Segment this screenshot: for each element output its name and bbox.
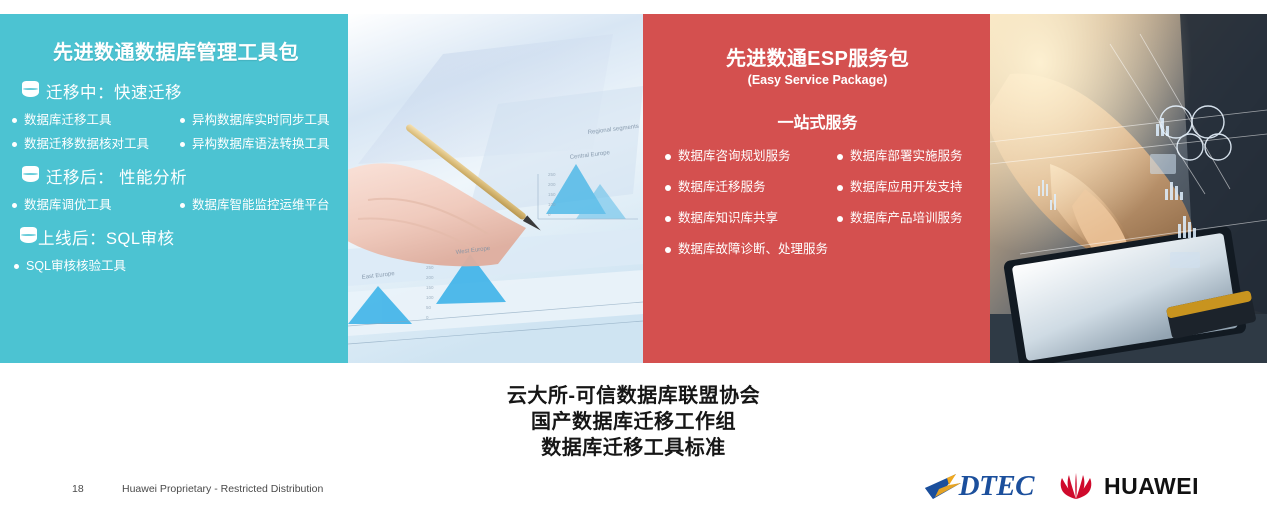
list-item-label: 数据迁移数据核对工具 [24, 137, 149, 152]
toolkit-list-during-migration: 数据库迁移工具 异构数据库实时同步工具 数据迁移数据核对工具 异构数据库语法转换… [12, 113, 340, 152]
section-heading-during-migration: 迁移中：快速迁移 [22, 79, 340, 103]
page-number: 18 [72, 483, 84, 495]
bullet-dot-icon [180, 203, 185, 208]
esp-panel-subtitle: (Easy Service Package) [655, 73, 980, 87]
caption-line-2: 国产数据库迁移工作组 [0, 409, 1267, 435]
database-icon [22, 166, 39, 186]
list-item: 数据库部署实施服务 [837, 149, 980, 164]
list-item-label: 数据库部署实施服务 [850, 149, 963, 164]
huawei-flower-icon [1056, 472, 1096, 502]
list-item-label: 数据库产品培训服务 [850, 211, 963, 226]
section-heading-label: 上线后：SQL审核 [38, 225, 175, 249]
toolkit-list-after-golive: SQL审核核验工具 [14, 259, 340, 274]
svg-text:250: 250 [548, 172, 556, 177]
tablet-photo [990, 14, 1267, 363]
list-item-label: SQL审核核验工具 [26, 259, 126, 274]
list-item-label: 数据库智能监控运维平台 [192, 198, 330, 213]
section-heading-label: 迁移后： 性能分析 [46, 164, 187, 188]
bullet-dot-icon [180, 118, 185, 123]
list-item: 数据库故障诊断、处理服务 [665, 242, 837, 257]
list-item: 数据库智能监控运维平台 [180, 198, 340, 213]
tablet-photo-illustration [990, 14, 1267, 363]
database-icon [22, 81, 39, 101]
list-item-label: 数据库应用开发支持 [850, 180, 963, 195]
database-icon [20, 227, 37, 247]
bullet-dot-icon [837, 216, 843, 222]
analytics-photo-illustration: Regional segments Central Europe West Eu… [348, 14, 643, 363]
huawei-wordmark: HUAWEI [1104, 473, 1199, 500]
svg-text:100: 100 [426, 295, 434, 300]
list-item-label: 异构数据库实时同步工具 [192, 113, 330, 128]
list-item: 异构数据库语法转换工具 [180, 137, 340, 152]
esp-service-list: 数据库咨询规划服务 数据库部署实施服务 数据库迁移服务 数据库应用开发支持 数据… [665, 149, 980, 257]
toolkit-panel-title: 先进数通数据库管理工具包 [12, 36, 340, 65]
svg-text:150: 150 [426, 285, 434, 290]
bullet-dot-icon [837, 154, 843, 160]
bullet-dot-icon [665, 247, 671, 253]
esp-panel-title: 先进数通ESP服务包 [655, 42, 980, 71]
list-item-label: 数据库迁移服务 [678, 180, 766, 195]
esp-service-panel: 先进数通ESP服务包 (Easy Service Package) 一站式服务 … [643, 14, 990, 363]
bullet-dot-icon [180, 142, 185, 147]
bullet-dot-icon [665, 185, 671, 191]
list-item: SQL审核核验工具 [14, 259, 340, 274]
list-item: 数据库应用开发支持 [837, 180, 980, 195]
svg-text:250: 250 [426, 265, 434, 270]
svg-text:150: 150 [548, 192, 556, 197]
list-item: 数据库调优工具 [12, 198, 180, 213]
huawei-logo: HUAWEI [1056, 472, 1199, 502]
confidentiality-note: Huawei Proprietary - Restricted Distribu… [122, 483, 323, 495]
svg-text:50: 50 [426, 305, 432, 310]
banner-strip: 先进数通数据库管理工具包 迁移中：快速迁移 数据库迁移工具 异构数据库实时同步工… [0, 14, 1267, 363]
svg-text:200: 200 [426, 275, 434, 280]
caption-line-1: 云大所-可信数据库联盟协会 [0, 383, 1267, 409]
svg-text:100: 100 [548, 202, 556, 207]
list-item: 数据库迁移服务 [665, 180, 837, 195]
bullet-dot-icon [665, 216, 671, 222]
caption-line-3: 数据库迁移工具标准 [0, 435, 1267, 461]
caption-block: 云大所-可信数据库联盟协会 国产数据库迁移工作组 数据库迁移工具标准 [0, 383, 1267, 461]
dtec-logo: DTEC [923, 470, 1034, 503]
logo-bar: DTEC HUAWEI [923, 470, 1199, 503]
toolkit-panel: 先进数通数据库管理工具包 迁移中：快速迁移 数据库迁移工具 异构数据库实时同步工… [0, 14, 348, 363]
section-heading-after-golive: 上线后：SQL审核 [20, 225, 340, 249]
bullet-dot-icon [12, 142, 17, 147]
list-item-label: 数据库故障诊断、处理服务 [678, 242, 828, 257]
list-item-label: 异构数据库语法转换工具 [192, 137, 330, 152]
bullet-dot-icon [837, 185, 843, 191]
list-item: 数据库咨询规划服务 [665, 149, 837, 164]
list-item: 数据迁移数据核对工具 [12, 137, 180, 152]
analytics-photo: Regional segments Central Europe West Eu… [348, 14, 643, 363]
bullet-dot-icon [12, 203, 17, 208]
section-heading-after-migration: 迁移后： 性能分析 [22, 164, 340, 188]
bullet-dot-icon [665, 154, 671, 160]
list-item-label: 数据库知识库共享 [678, 211, 778, 226]
esp-section-heading: 一站式服务 [655, 109, 980, 133]
list-item: 数据库迁移工具 [12, 113, 180, 128]
bullet-dot-icon [14, 264, 19, 269]
svg-text:200: 200 [548, 182, 556, 187]
toolkit-list-after-migration: 数据库调优工具 数据库智能监控运维平台 [12, 198, 340, 213]
list-item-label: 数据库咨询规划服务 [678, 149, 791, 164]
section-heading-label: 迁移中：快速迁移 [46, 79, 182, 103]
list-item-label: 数据库调优工具 [24, 198, 112, 213]
dtec-wordmark: DTEC [959, 470, 1034, 503]
list-item: 异构数据库实时同步工具 [180, 113, 340, 128]
list-item: 数据库知识库共享 [665, 211, 837, 226]
bullet-dot-icon [12, 118, 17, 123]
list-item: 数据库产品培训服务 [837, 211, 980, 226]
list-item-label: 数据库迁移工具 [24, 113, 112, 128]
